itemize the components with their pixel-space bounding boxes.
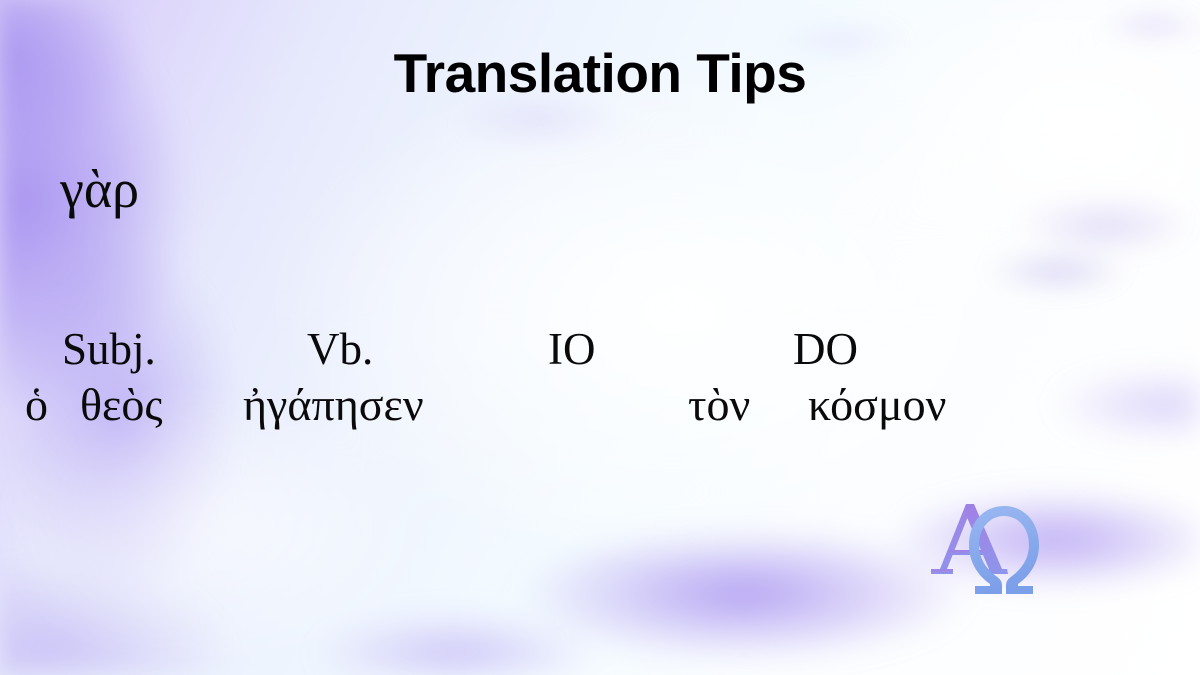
greek-sentence-row: ὁ θεὸς ἠγάπησεν τὸν κόσμον	[0, 381, 1200, 441]
grammar-label-row: Subj. Vb. IO DO	[0, 327, 1200, 377]
slide-title: Translation Tips	[0, 46, 1200, 101]
grammar-label-verb: Vb.	[307, 327, 373, 372]
greek-word-ton: τὸν	[688, 381, 750, 429]
greek-conjunction-gar: γὰρ	[60, 162, 139, 216]
grammar-label-indirect-object: IO	[548, 327, 595, 372]
alpha-omega-logo	[928, 498, 1050, 598]
greek-word-egapesen: ἠγάπησεν	[243, 381, 424, 429]
greek-word-ho: ὁ	[25, 381, 48, 429]
greek-word-theos: θεὸς	[80, 381, 163, 429]
slide-content: Translation Tips γὰρ Subj. Vb. IO DO ὁ θ…	[0, 0, 1200, 675]
slide-canvas: Translation Tips γὰρ Subj. Vb. IO DO ὁ θ…	[0, 0, 1200, 675]
greek-word-kosmon: κόσμον	[808, 381, 946, 429]
grammar-label-subject: Subj.	[62, 327, 156, 372]
grammar-label-direct-object: DO	[793, 327, 858, 372]
alpha-omega-logo-svg	[928, 498, 1050, 598]
